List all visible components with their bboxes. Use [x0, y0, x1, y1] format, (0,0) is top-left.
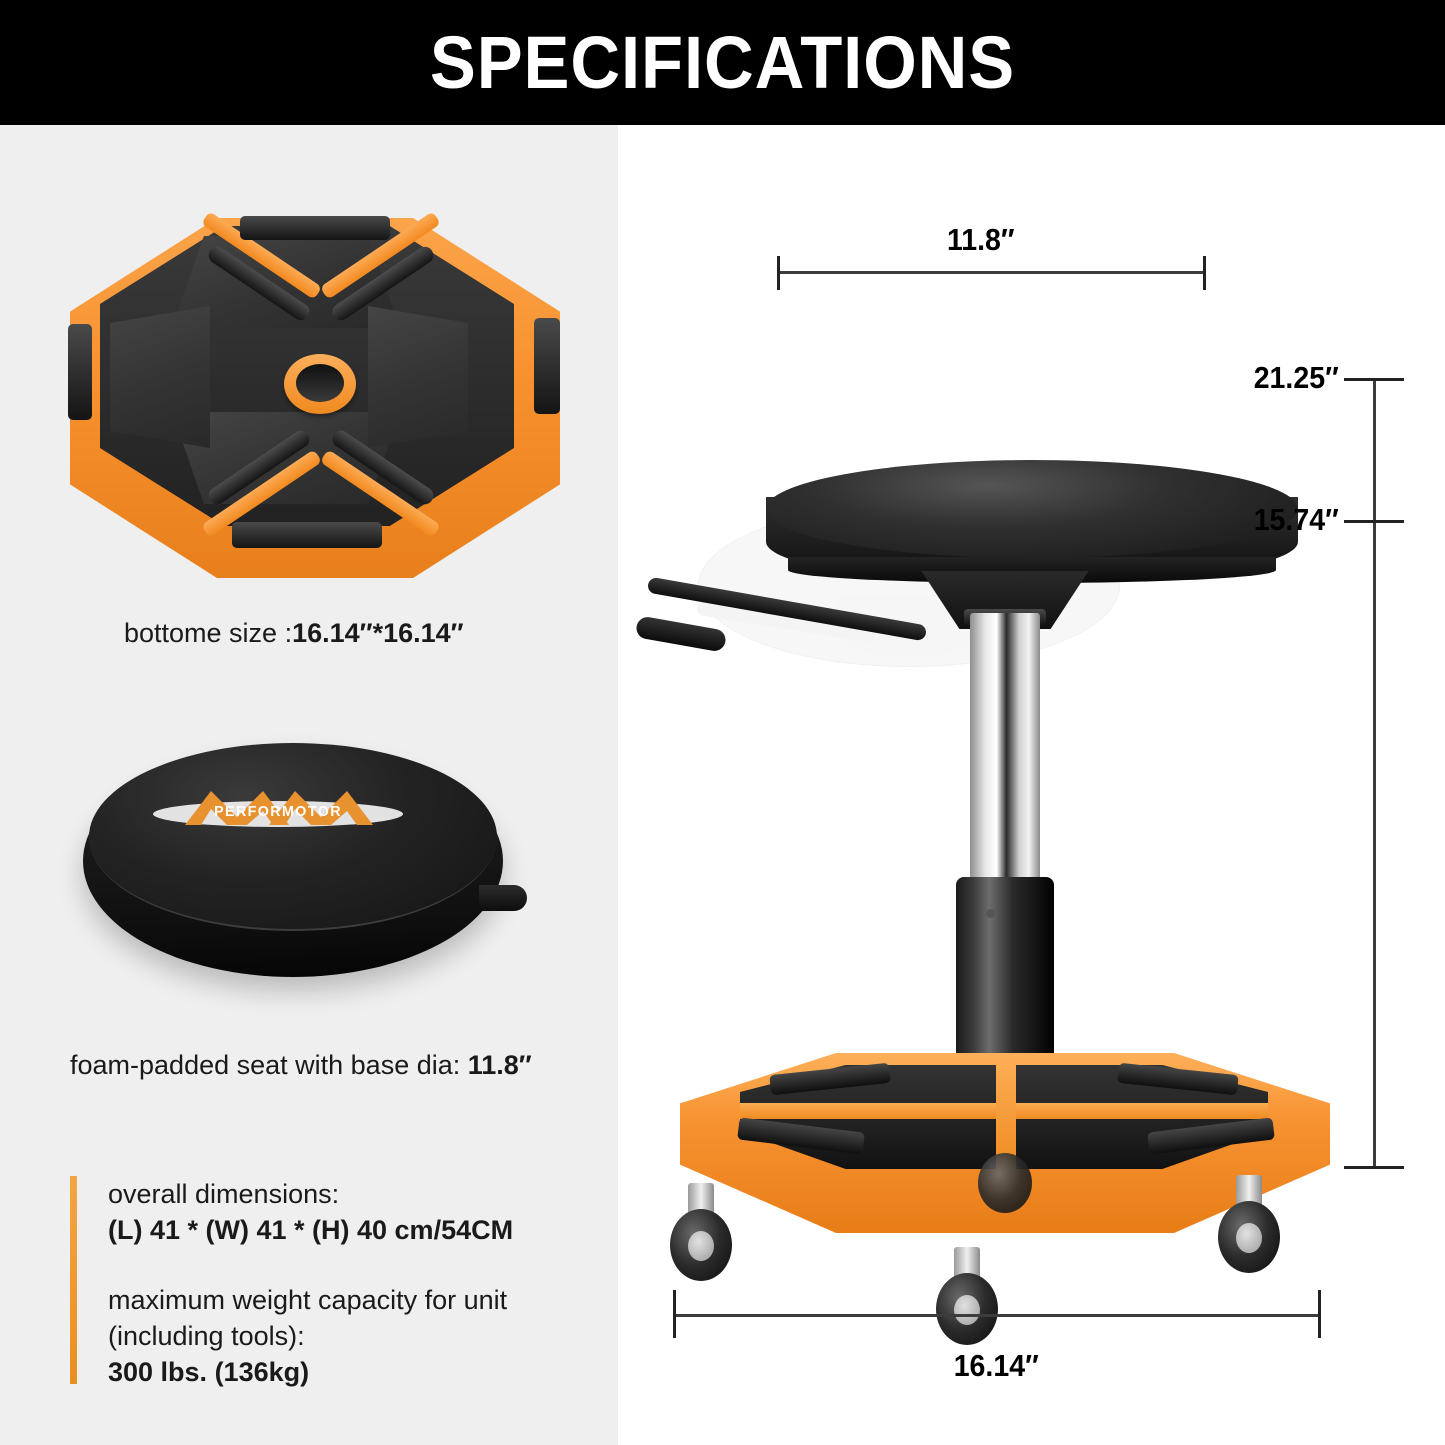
tray-compartment-left	[110, 306, 210, 448]
caster-front-hubcap	[954, 1295, 980, 1325]
dim-tick-base-width-left	[673, 1290, 676, 1338]
dim-tick-min-height	[1344, 520, 1404, 523]
dim-tick-base-width-right	[1318, 1290, 1321, 1338]
base-tray-caption-prefix: bottome size :	[124, 618, 292, 648]
tray-center-hub-hole	[296, 364, 344, 402]
overall-dimensions-label: overall dimensions:	[108, 1176, 513, 1212]
seat-cushion-caption: foam-padded seat with base dia: 11.8″	[70, 1050, 532, 1081]
overall-dimensions-spec: overall dimensions: (L) 41 * (W) 41 * (H…	[108, 1176, 513, 1248]
caster-left-hubcap	[688, 1231, 714, 1261]
dim-line-seat-width	[777, 271, 1205, 274]
gas-lift-cylinder-port	[986, 909, 995, 918]
caster-right-hubcap	[1236, 1223, 1262, 1253]
overall-dimensions-value: (L) 41 * (W) 41 * (H) 40 cm/54CM	[108, 1212, 513, 1248]
tray-rubber-pad-left	[68, 324, 92, 420]
dim-tick-max-height	[1344, 378, 1404, 381]
stool-figure	[618, 125, 1445, 1445]
spec-accent-bar	[70, 1176, 77, 1384]
weight-capacity-spec: maximum weight capacity for unit (includ…	[108, 1282, 507, 1390]
chrome-gas-lift-rod	[970, 613, 1040, 883]
height-adjust-lever-grip	[635, 615, 727, 652]
brand-logo-text: PERFORMOTOR	[159, 803, 397, 820]
base-tray-caption-value: 16.14″*16.14″	[292, 618, 464, 648]
seat-cushion-caption-prefix: foam-padded seat with base dia:	[70, 1050, 468, 1080]
base-tray-caption: bottome size :16.14″*16.14″	[124, 618, 464, 649]
specifications-page: SPECIFICATIONS bottome size :16.14″*16.1…	[0, 0, 1445, 1445]
dim-line-base-width	[673, 1314, 1321, 1317]
tray-rubber-pad-right	[534, 318, 560, 414]
cushion-top-surface	[89, 743, 497, 931]
octagonal-base-tray-figure	[62, 196, 572, 596]
caster-rear-wheel	[978, 1153, 1032, 1213]
dim-label-min-height: 15.74″	[1254, 502, 1339, 538]
header-banner: SPECIFICATIONS	[0, 0, 1445, 125]
tray-rubber-pad-top	[240, 216, 390, 240]
dim-line-height	[1373, 378, 1376, 1168]
dim-label-seat-width: 11.8″	[947, 222, 1015, 258]
weight-capacity-label-line1: maximum weight capacity for unit	[108, 1282, 507, 1318]
weight-capacity-label-line2: (including tools):	[108, 1318, 507, 1354]
seat-cushion-caption-value: 11.8″	[468, 1050, 532, 1080]
weight-capacity-value: 300 lbs. (136kg)	[108, 1354, 507, 1390]
dim-tick-seat-width-right	[1203, 256, 1206, 290]
cushion-pull-tab	[479, 885, 527, 911]
seat-cushion-figure: PERFORMOTOR	[75, 735, 545, 1005]
right-panel	[618, 125, 1445, 1445]
seat-top-cushion	[766, 460, 1298, 558]
dim-tick-seat-width-left	[777, 256, 780, 290]
page-title: SPECIFICATIONS	[51, 0, 1395, 125]
dim-label-base-width: 16.14″	[954, 1348, 1039, 1384]
brand-logo: PERFORMOTOR	[153, 787, 403, 837]
dim-label-max-height: 21.25″	[1254, 360, 1339, 396]
tray-rubber-pad-bottom	[232, 522, 382, 548]
tray-compartment-right	[368, 306, 468, 448]
dim-tick-floor	[1344, 1166, 1404, 1169]
